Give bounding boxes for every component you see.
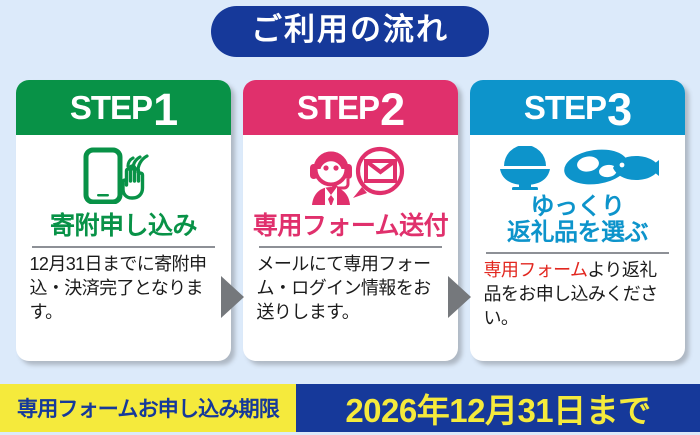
page-title: ご利用の流れ	[211, 6, 489, 57]
step-card-2[interactable]: STEP2	[243, 80, 458, 361]
step-1-body: 寄附申し込み 12月31日までに寄附申込・決済完了となります。	[16, 135, 231, 361]
step-3-title-line1: ゆっくり	[507, 194, 648, 220]
step-3-description: 専用フォームより返礼品をお申し込みください。	[484, 259, 672, 331]
header-banner: ご利用の流れ	[0, 6, 700, 57]
deadline-banner: 専用フォームお申し込み期限 2026年12月31日まで	[0, 384, 700, 432]
step-2-description: メールにて専用フォーム・ログイン情報をお送りします。	[257, 253, 445, 325]
step-1-desc-text: 12月31日までに寄附申込・決済完了となります。	[30, 254, 207, 322]
step-3-title-line2: 返礼品を選ぶ	[507, 220, 648, 246]
step-1-description: 12月31日までに寄附申込・決済完了となります。	[30, 253, 218, 325]
step-3-desc-highlight: 専用フォーム	[484, 260, 588, 280]
step-2-divider	[259, 246, 442, 248]
step-2-body: 専用フォーム送付 メールにて専用フォーム・ログイン情報をお送りします。	[243, 135, 458, 361]
step-3-number: 3	[607, 92, 632, 128]
step-3-header: STEP3	[470, 80, 685, 135]
step-3-divider	[486, 252, 669, 254]
smartphone-tap-icon	[78, 144, 170, 206]
deadline-date: 2026年12月31日まで	[296, 384, 700, 432]
step-1-number: 1	[153, 92, 178, 128]
arrow-step1-to-step2-icon	[221, 276, 244, 318]
step-3-label: STEP	[524, 89, 606, 127]
deadline-label-text: 専用フォームお申し込み期限	[17, 393, 279, 423]
step-1-title: 寄附申し込み	[50, 213, 197, 240]
deadline-label: 専用フォームお申し込み期限	[0, 384, 296, 432]
step-2-header: STEP2	[243, 80, 458, 135]
steps-container: STEP1 寄附申し込み 12月31日までに寄附申込・決済完了となります。	[0, 80, 700, 365]
step-1-label: STEP	[70, 89, 152, 127]
step-1-divider	[32, 246, 215, 248]
step-card-1[interactable]: STEP1 寄附申し込み 12月31日までに寄附申込・決済完了となります。	[16, 80, 231, 361]
arrow-step2-to-step3-icon	[448, 276, 471, 318]
operator-headset-email-icon	[292, 144, 410, 206]
deadline-date-text: 2026年12月31日まで	[345, 384, 650, 432]
step-3-title: ゆっくり 返礼品を選ぶ	[507, 194, 648, 246]
step-2-desc-text: メールにて専用フォーム・ログイン情報をお送りします。	[257, 254, 431, 322]
food-rice-meat-fish-icon	[496, 144, 659, 192]
step-card-3[interactable]: STEP3	[470, 80, 685, 361]
step-2-number: 2	[380, 92, 405, 128]
step-3-body: ゆっくり 返礼品を選ぶ 専用フォームより返礼品をお申し込みください。	[470, 135, 685, 361]
step-2-label: STEP	[297, 89, 379, 127]
step-2-title: 専用フォーム送付	[253, 213, 448, 240]
step-1-header: STEP1	[16, 80, 231, 135]
